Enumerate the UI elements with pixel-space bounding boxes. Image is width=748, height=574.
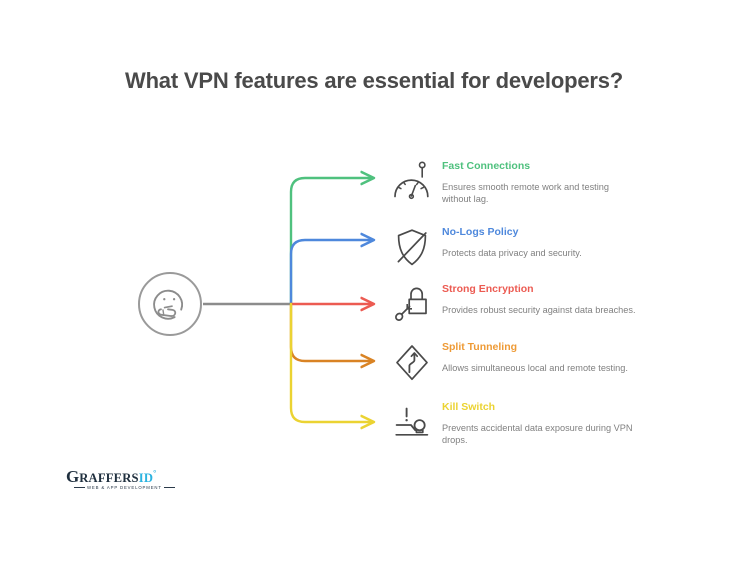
page-title: What VPN features are essential for deve…	[0, 68, 748, 94]
connector-branch-fast-connections	[291, 178, 373, 304]
logo-wordmark: GRAFFERSID°	[66, 467, 156, 487]
logo-word-main: RAFFERS	[79, 471, 138, 485]
feature-item-kill-switch[interactable]: Kill Switch Prevents accidental data exp…	[392, 401, 642, 457]
feature-heading: Kill Switch	[442, 401, 640, 414]
feature-heading: No-Logs Policy	[442, 226, 640, 239]
feature-text-block: Strong Encryption Provides robust securi…	[442, 283, 640, 317]
logo-tagline-row: WEB & APP DEVELOPMENT	[72, 485, 177, 490]
logo-tagline: WEB & APP DEVELOPMENT	[87, 485, 162, 490]
connector-branch-no-logs-policy	[291, 240, 373, 304]
tagline-rule-left	[74, 487, 85, 488]
feature-description: Protects data privacy and security.	[442, 248, 640, 260]
connector-branch-kill-switch	[291, 304, 373, 422]
central-node	[138, 272, 202, 336]
feature-text-block: Fast Connections Ensures smooth remote w…	[442, 160, 640, 205]
feature-description: Allows simultaneous local and remote tes…	[442, 363, 640, 375]
kill-switch-lever-icon	[392, 401, 432, 445]
split-road-sign-icon	[392, 341, 432, 385]
feature-description: Prevents accidental data exposure during…	[442, 423, 640, 446]
feature-item-strong-encryption[interactable]: Strong Encryption Provides robust securi…	[392, 283, 642, 339]
feature-text-block: No-Logs Policy Protects data privacy and…	[442, 226, 640, 260]
thinking-face-icon	[150, 284, 190, 324]
feature-heading: Split Tunneling	[442, 341, 640, 354]
feature-text-block: Kill Switch Prevents accidental data exp…	[442, 401, 640, 446]
padlock-key-icon	[392, 283, 432, 327]
connector-branch-split-tunneling	[291, 304, 373, 361]
tagline-rule-right	[164, 487, 175, 488]
infographic-canvas: What VPN features are essential for deve…	[0, 0, 748, 574]
feature-item-fast-connections[interactable]: Fast Connections Ensures smooth remote w…	[392, 160, 642, 216]
speedometer-icon	[392, 160, 432, 204]
shield-crossed-icon	[392, 226, 432, 270]
feature-item-split-tunneling[interactable]: Split Tunneling Allows simultaneous loca…	[392, 341, 642, 397]
feature-heading: Strong Encryption	[442, 283, 640, 296]
feature-heading: Fast Connections	[442, 160, 640, 173]
feature-description: Ensures smooth remote work and testing w…	[442, 182, 640, 205]
logo-word-accent: ID	[139, 471, 153, 485]
feature-description: Provides robust security against data br…	[442, 305, 640, 317]
logo-letter-g: G	[66, 467, 79, 486]
logo-dot: °	[153, 469, 156, 478]
feature-item-no-logs-policy[interactable]: No-Logs Policy Protects data privacy and…	[392, 226, 642, 282]
feature-text-block: Split Tunneling Allows simultaneous loca…	[442, 341, 640, 375]
graffersid-logo: GRAFFERSID° WEB & APP DEVELOPMENT	[66, 467, 186, 499]
